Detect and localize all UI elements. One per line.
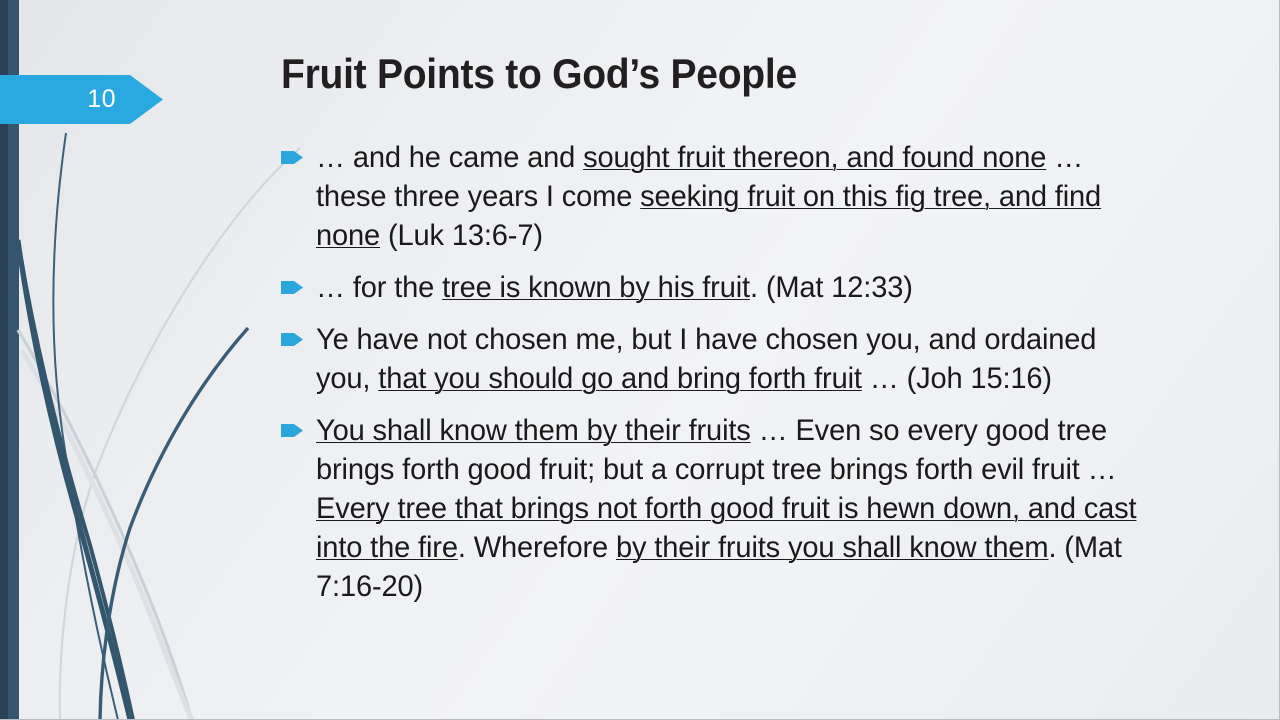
bullet-list: … and he came and sought fruit thereon, …	[281, 138, 1161, 619]
list-item: Ye have not chosen me, but I have chosen…	[281, 320, 1161, 398]
bullet-text: … for the tree is known by his fruit. (M…	[316, 268, 1148, 307]
list-item: You shall know them by their fruits … Ev…	[281, 411, 1161, 606]
bullet-text: You shall know them by their fruits … Ev…	[316, 411, 1148, 606]
bullet-text: … and he came and sought fruit thereon, …	[316, 138, 1148, 255]
list-item: … for the tree is known by his fruit. (M…	[281, 268, 1161, 307]
bullet-arrow-icon	[281, 333, 303, 346]
list-item: … and he came and sought fruit thereon, …	[281, 138, 1161, 255]
bullet-text: Ye have not chosen me, but I have chosen…	[316, 320, 1148, 398]
slide-number: 10	[0, 75, 130, 124]
bullet-arrow-icon	[281, 424, 303, 437]
slide-number-banner: 10	[0, 75, 163, 124]
presentation-slide: 10 Fruit Points to God’s People … and he…	[0, 0, 1280, 720]
page-title: Fruit Points to God’s People	[281, 50, 1118, 98]
bullet-arrow-icon	[281, 281, 303, 294]
bullet-arrow-icon	[281, 151, 303, 164]
